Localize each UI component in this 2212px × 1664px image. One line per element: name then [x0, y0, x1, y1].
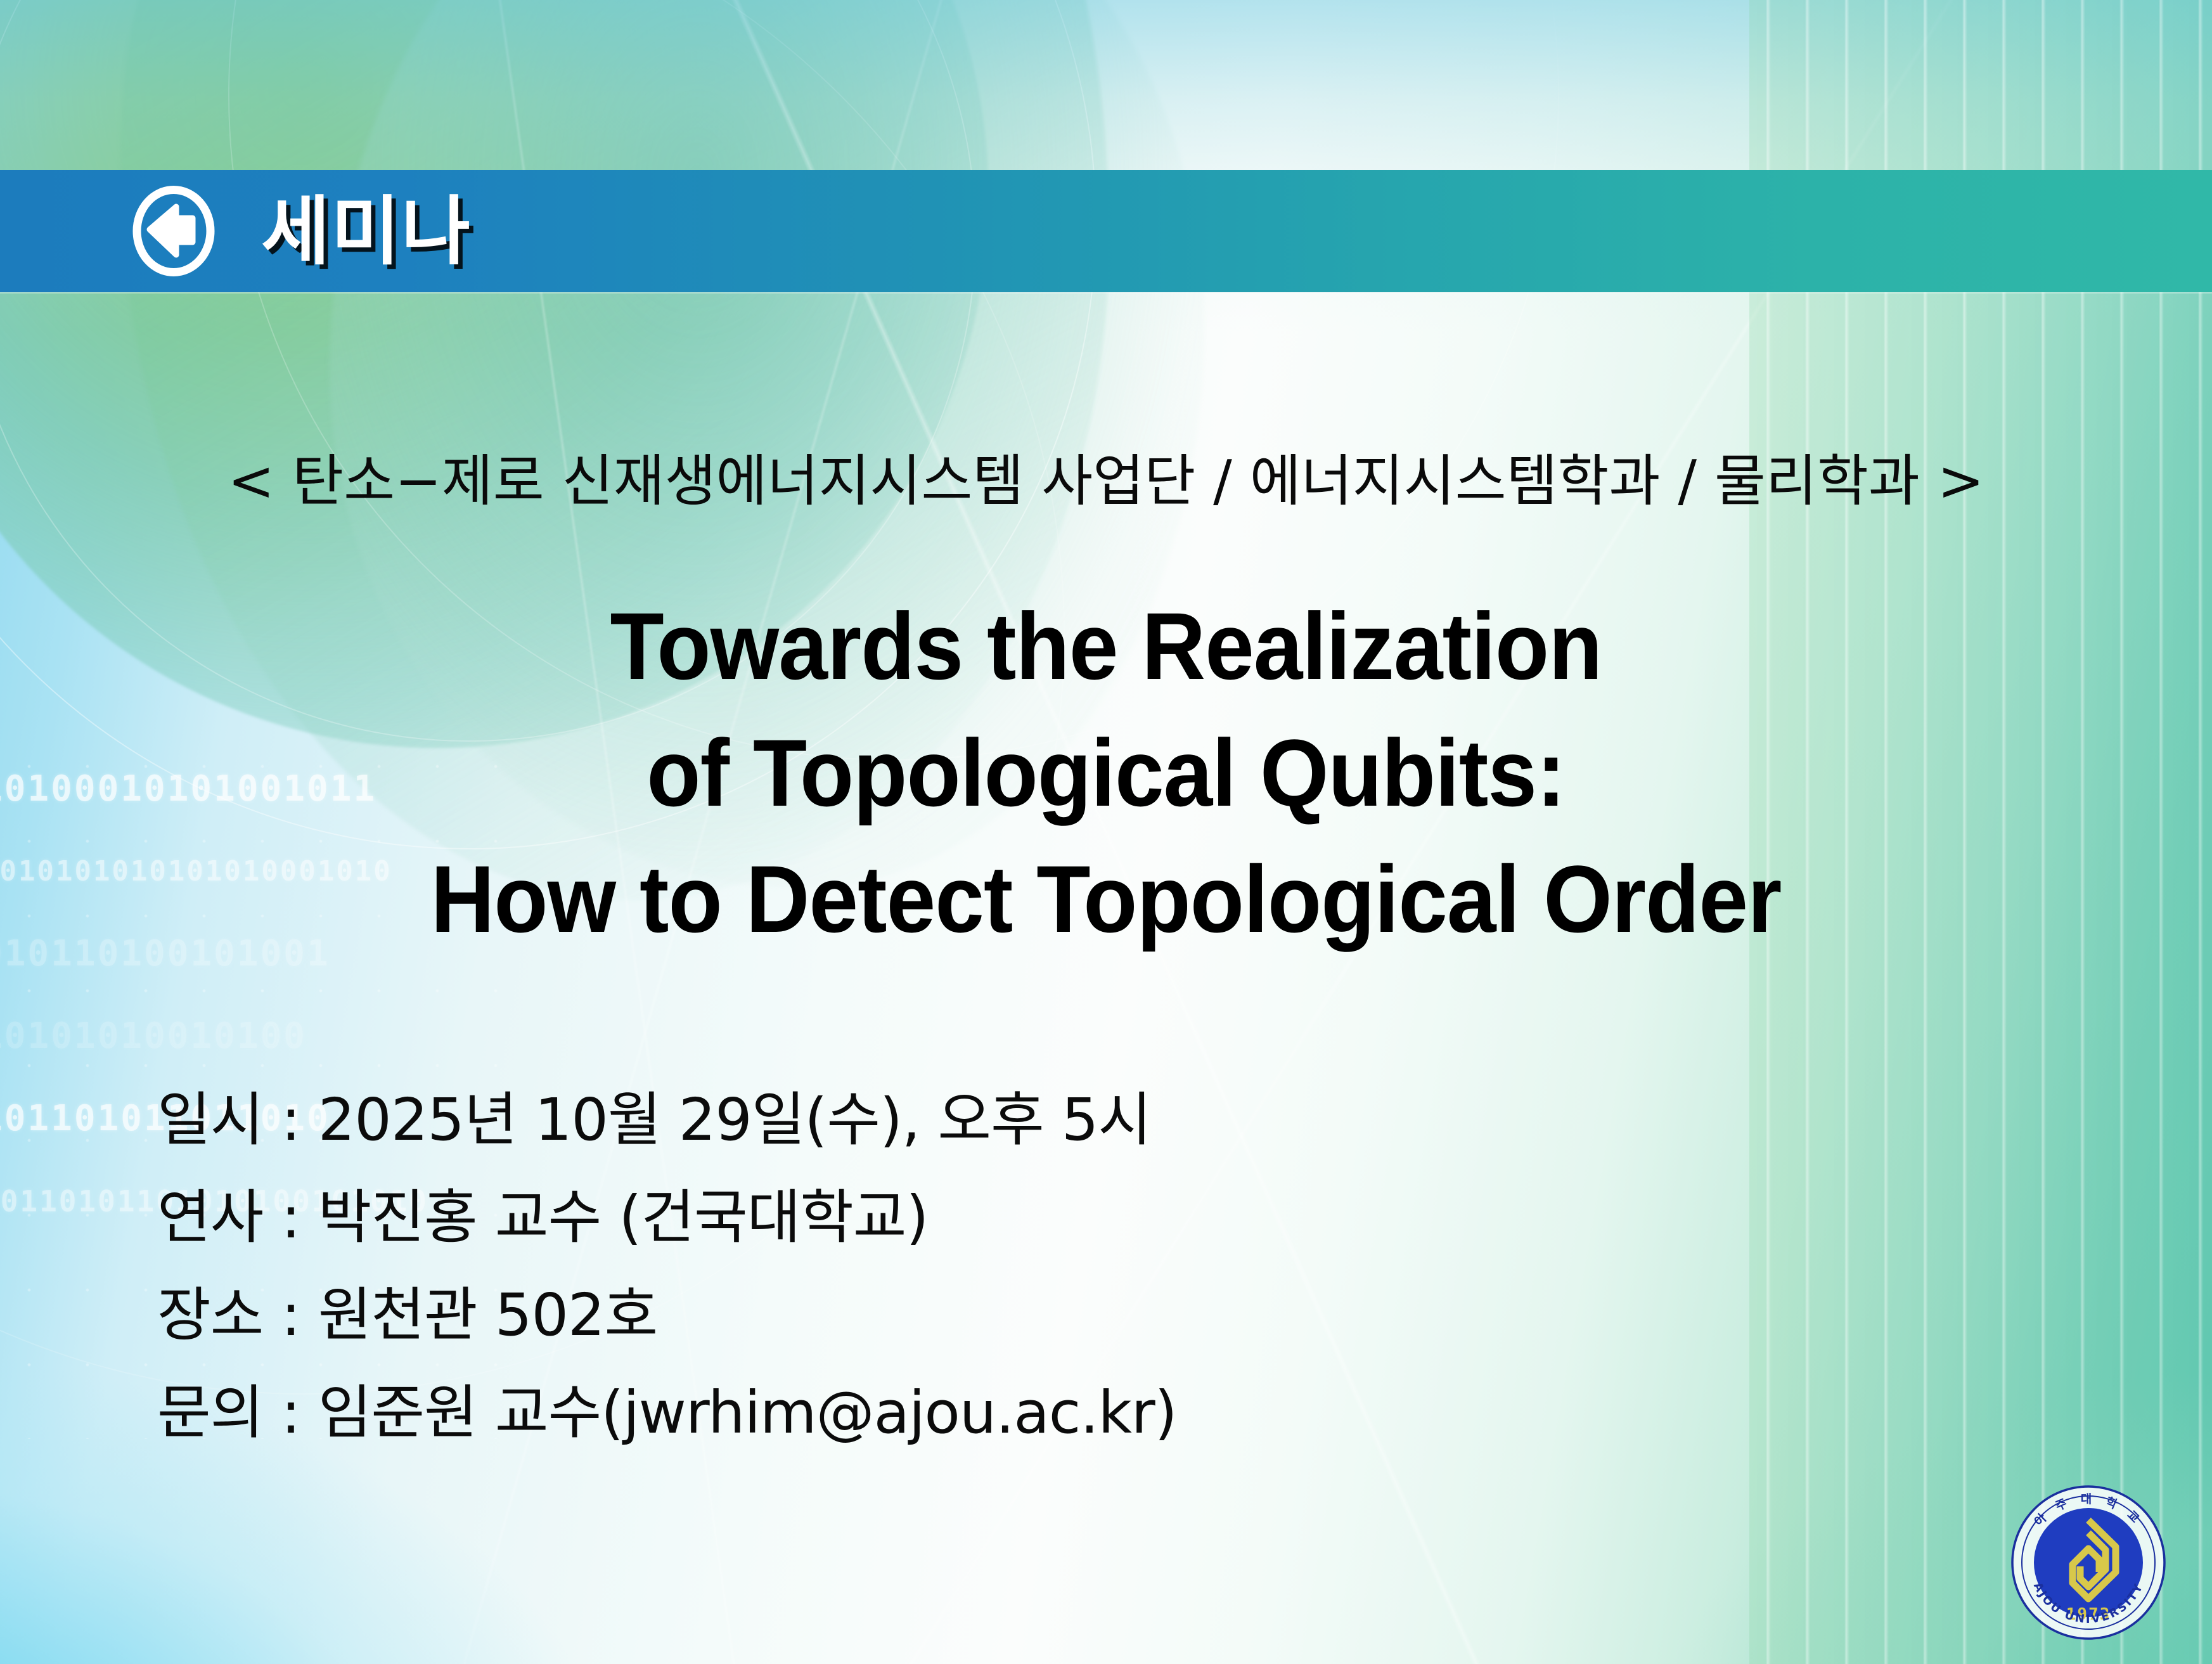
seminar-details: 일시 : 2025년 10월 29일(수), 오후 5시 연사 : 박진홍 교수… [157, 1071, 1805, 1462]
talk-title-line-2: of Topological Qubits: [77, 710, 2135, 837]
seminar-poster: 10100010101001011 1010101010101010001010… [0, 0, 2212, 1664]
detail-contact: 문의 : 임준원 교수(jwrhim@ajou.ac.kr) [157, 1364, 1805, 1462]
talk-title-line-1: Towards the Realization [77, 583, 2135, 710]
poster-content: < 탄소−제로 신재생에너지시스템 사업단 / 에너지시스템학과 / 물리학과 … [0, 0, 2212, 1664]
detail-datetime: 일시 : 2025년 10월 29일(수), 오후 5시 [157, 1071, 1805, 1169]
detail-speaker: 연사 : 박진홍 교수 (건국대학교) [157, 1169, 1805, 1267]
talk-title-line-3: How to Detect Topological Order [77, 836, 2135, 963]
talk-title: Towards the Realization of Topological Q… [77, 583, 2135, 963]
detail-venue: 장소 : 원천관 502호 [157, 1267, 1805, 1364]
organizers-line: < 탄소−제로 신재생에너지시스템 사업단 / 에너지시스템학과 / 물리학과 … [0, 436, 2212, 517]
ajou-university-logo: 1973 아 주 대 학 교 AJOU UNIVERSITY [2009, 1483, 2168, 1642]
